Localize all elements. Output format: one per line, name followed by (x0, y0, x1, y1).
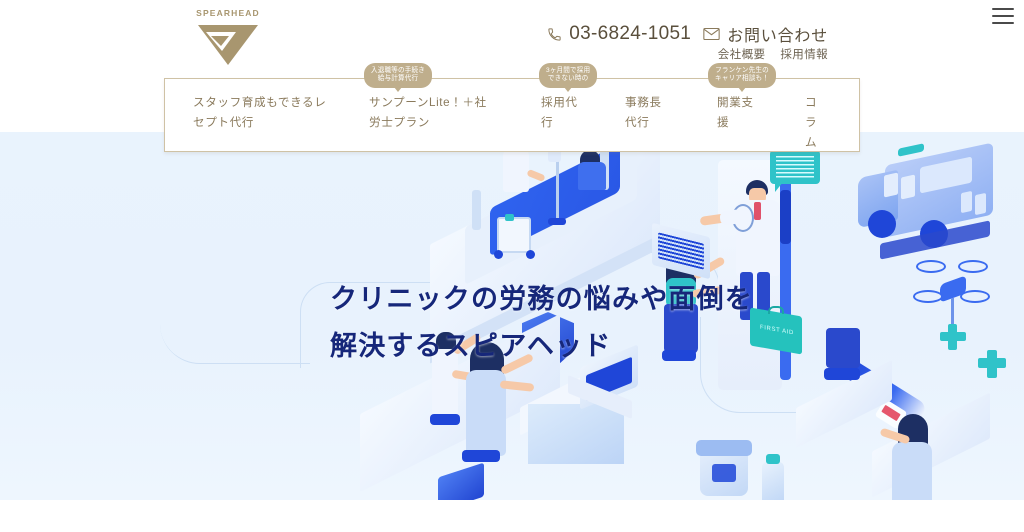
first-aid-kit-handle (768, 306, 784, 314)
nav-item-recept-daiko[interactable]: スタッフ育成もできるレセプト代行 (193, 93, 333, 133)
primary-nav-panel: スタッフ育成もできるレセプト代行 サンプーンLite！＋社労士プラン 採用代行 … (164, 78, 860, 152)
desk-leg-panel (528, 404, 624, 464)
spearhead-logo-icon (196, 21, 260, 66)
ambulance-window-rear-2 (975, 193, 986, 215)
nav-badge-career-line1: フランケン先生の (715, 67, 769, 74)
speech-bubble-lines (776, 156, 814, 178)
doctor-tie (754, 202, 761, 220)
medical-trolley (497, 217, 531, 253)
mail-icon (703, 27, 720, 41)
thermometer-nurse-dress (892, 442, 932, 500)
header-sub-links: 会社概要 採用情報 (718, 46, 828, 62)
trolley-wheel-right (526, 250, 535, 259)
doctor-pillar-stripe-dark (780, 190, 791, 244)
nav-badge-hiring-line1: 3ヶ月間で採用 (546, 67, 590, 74)
nav-badge-hiring: 3ヶ月間で採用 できない時の (539, 63, 597, 88)
ambulance-wheel-front (868, 210, 896, 238)
hamburger-line-3 (992, 22, 1014, 24)
standing-woman-skirt (826, 328, 860, 368)
nurse-bed-arm (526, 169, 545, 182)
water-bottle (762, 462, 784, 500)
nurse-bed-body (503, 148, 529, 192)
medicine-jar-label (712, 464, 736, 482)
nav-badge-payroll-line2: 給与計算代行 (378, 75, 418, 82)
nav-item-kaigyo-shien[interactable]: 開業支援 (717, 93, 761, 133)
sub-link-recruit[interactable]: 採用情報 (780, 46, 828, 62)
patient-body (578, 162, 606, 190)
left-shape-block (438, 463, 484, 500)
page-root: FIRST AID (0, 0, 1024, 532)
hamburger-line-1 (992, 8, 1014, 10)
nav-item-sanpoon-lite[interactable]: サンプーンLite！＋社労士プラン (369, 93, 489, 133)
contact-link[interactable]: お問い合わせ (703, 22, 828, 46)
contact-label: お問い合わせ (727, 22, 828, 46)
ambulance-window-side-1 (884, 173, 898, 198)
standing-woman-shoes (824, 368, 860, 380)
water-bottle-cap (766, 454, 780, 464)
staff-female-shoes (462, 450, 500, 462)
hospital-bed-footboard (472, 190, 481, 230)
hero-bottom-spacer (0, 500, 1024, 532)
nav-item-column[interactable]: コラム (805, 93, 821, 153)
drone-rotor-br (960, 290, 990, 303)
trolley-wheel-left (494, 250, 503, 259)
trolley-item (505, 214, 514, 221)
drone-rotor-bl (913, 290, 943, 303)
ambulance-light-bar (898, 143, 924, 157)
hamburger-line-2 (992, 15, 1014, 17)
site-logo[interactable]: SPEARHEAD (190, 8, 266, 66)
phone-number: 03-6824-1051 (569, 23, 691, 45)
hero-headline-line2: 解決するスピアヘッド (330, 323, 753, 370)
sub-link-company[interactable]: 会社概要 (718, 46, 766, 62)
hamburger-menu-button[interactable] (990, 5, 1016, 27)
hero-headline: クリニックの労務の悩みや面倒を 解決するスピアヘッド (330, 276, 753, 370)
connector-line-left (160, 304, 310, 364)
drone-cross-icon-v (948, 324, 957, 350)
nav-badge-career: フランケン先生の キャリア相談も！ (708, 63, 776, 88)
nav-badge-career-line2: キャリア相談も！ (715, 75, 769, 82)
nav-badge-payroll-line1: 入退職等の手続き (371, 67, 425, 74)
nav-badge-hiring-line2: できない時の (548, 75, 588, 82)
nav-badge-payroll: 入退職等の手続き 給与計算代行 (364, 63, 432, 88)
header-contact-row: 03-6824-1051 お問い合わせ (547, 22, 828, 46)
ambulance-window-side-2 (901, 175, 915, 200)
iv-drip-base (548, 218, 566, 225)
logo-wordmark: SPEARHEAD (190, 8, 266, 18)
phone-icon (547, 27, 562, 42)
drone-rotor-tr (958, 260, 988, 273)
teal-cross-icon-v (987, 350, 997, 378)
nav-item-jimucho-daiko[interactable]: 事務長代行 (625, 93, 663, 133)
ambulance-window-rear-1 (961, 191, 972, 213)
speech-bubble-tail (775, 182, 783, 192)
staff-male-shoes (430, 414, 460, 425)
medicine-jar-lid (696, 440, 752, 456)
phone-link[interactable]: 03-6824-1051 (547, 23, 691, 45)
drone-rotor-tl (916, 260, 946, 273)
hero-headline-line1: クリニックの労務の悩みや面倒を (330, 276, 753, 323)
nav-item-saiyo-daiko[interactable]: 採用代行 (541, 93, 585, 133)
